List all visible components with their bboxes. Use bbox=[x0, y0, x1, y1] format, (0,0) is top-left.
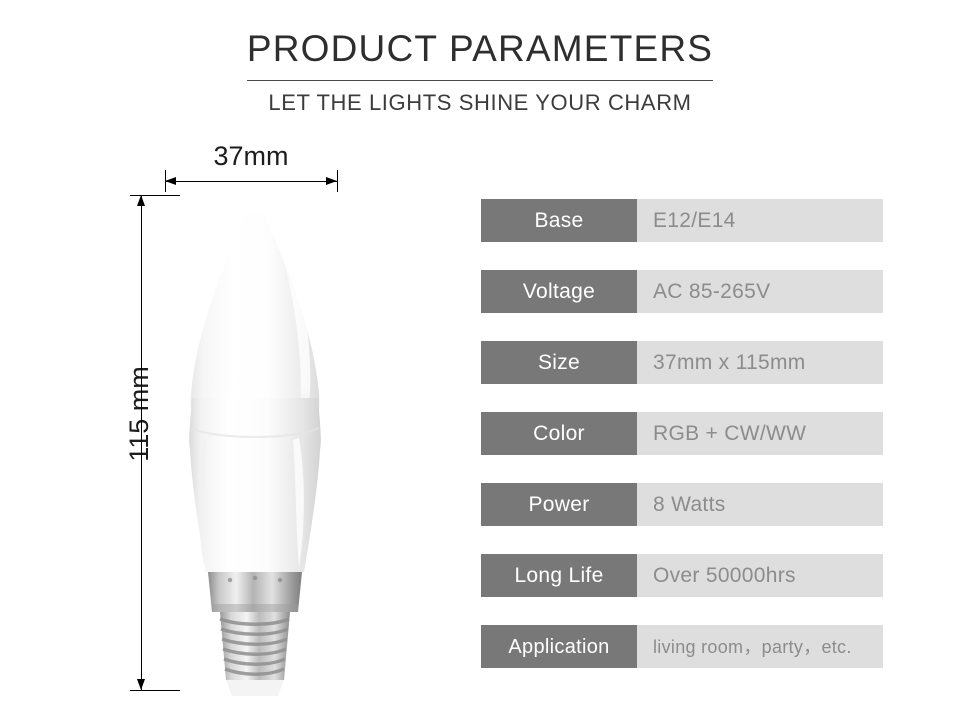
spec-label: Application bbox=[481, 625, 637, 668]
height-dimension-line bbox=[141, 195, 142, 690]
width-arrow-left-icon bbox=[165, 177, 176, 185]
table-row: Size 37mm x 115mm bbox=[481, 341, 883, 384]
page-title: PRODUCT PARAMETERS bbox=[0, 26, 960, 72]
spec-label: Size bbox=[481, 341, 637, 384]
height-dimension-label: 115 mm bbox=[124, 354, 154, 474]
spec-label: Long Life bbox=[481, 554, 637, 597]
table-row: Long Life Over 50000hrs bbox=[481, 554, 883, 597]
title-divider bbox=[247, 80, 713, 81]
page-subtitle: LET THE LIGHTS SHINE YOUR CHARM bbox=[0, 88, 960, 118]
spec-label: Base bbox=[481, 199, 637, 242]
height-arrow-up-icon bbox=[137, 195, 145, 206]
spec-value: Over 50000hrs bbox=[637, 554, 883, 597]
table-row: Color RGB + CW/WW bbox=[481, 412, 883, 455]
product-parameters-table: Base E12/E14 Voltage AC 85-265V Size 37m… bbox=[481, 199, 883, 668]
table-row: Power 8 Watts bbox=[481, 483, 883, 526]
spec-value: 37mm x 115mm bbox=[637, 341, 883, 384]
spec-label: Voltage bbox=[481, 270, 637, 313]
height-arrow-down-icon bbox=[137, 679, 145, 690]
width-arrow-right-icon bbox=[326, 177, 337, 185]
width-dimension-label: 37mm bbox=[165, 140, 337, 173]
table-row: Base E12/E14 bbox=[481, 199, 883, 242]
width-dimension-line bbox=[165, 181, 337, 182]
table-row: Voltage AC 85-265V bbox=[481, 270, 883, 313]
spec-value: living room，party，etc. bbox=[637, 625, 883, 668]
spec-value: E12/E14 bbox=[637, 199, 883, 242]
page-header: PRODUCT PARAMETERS LET THE LIGHTS SHINE … bbox=[0, 26, 960, 118]
spec-label: Power bbox=[481, 483, 637, 526]
spec-value: AC 85-265V bbox=[637, 270, 883, 313]
spec-value: RGB + CW/WW bbox=[637, 412, 883, 455]
spec-value: 8 Watts bbox=[637, 483, 883, 526]
table-row: Application living room，party，etc. bbox=[481, 625, 883, 668]
spec-label: Color bbox=[481, 412, 637, 455]
led-candle-bulb-image bbox=[160, 188, 350, 698]
